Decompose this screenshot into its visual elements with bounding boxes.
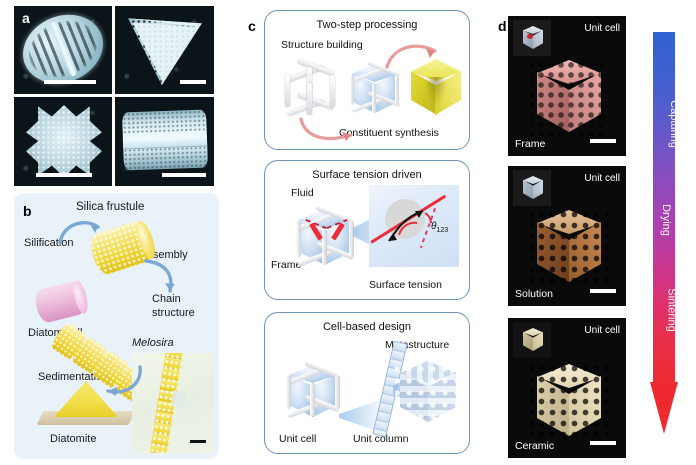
stage-text: Capturing: [668, 100, 680, 148]
lattice-pores: [395, 361, 461, 425]
label-silica-frustule: Silica frustule: [76, 201, 144, 214]
box-title: Two-step processing: [265, 19, 469, 31]
scale-bar: [36, 173, 92, 177]
process-box-two-step: Two-step processing Structure building C…: [264, 10, 470, 150]
stage-label-sintering: Sintering: [650, 304, 672, 316]
panel-a: a: [14, 6, 214, 186]
label-chain-structure-line2: structure: [152, 307, 195, 320]
photo-frame-stage: Unit cell Frame: [508, 16, 626, 156]
inset-label: Unit cell: [584, 325, 620, 336]
photo-solution-stage: Unit cell Solution: [508, 166, 626, 306]
sem-image-cross-diatom: [14, 97, 112, 186]
frame-bar: [350, 75, 354, 105]
panel-b-letter: b: [23, 203, 32, 219]
fluid-frame-cube: [293, 205, 357, 269]
arrow-silification: [56, 215, 102, 245]
figure-root: a b Silica frustule Silificati: [0, 0, 696, 465]
arrow-fluid-to-constituent: [385, 39, 441, 71]
scale-bar: [180, 80, 206, 84]
panel-a-letter: a: [22, 10, 30, 26]
diatom-cell-illustration: [33, 280, 88, 325]
scale-bar: [590, 139, 616, 143]
process-arrow: Capturing Drying Sintering: [650, 32, 678, 436]
frame-bar: [285, 75, 290, 107]
frame-bar: [349, 221, 354, 257]
solution-lattice-cube: [530, 210, 608, 286]
inset-label: Unit cell: [584, 173, 620, 184]
panel-c: c Two-step processing Structure building…: [248, 6, 470, 461]
mini-unit-cell-cube: [521, 328, 545, 352]
box-title: Cell-based design: [265, 321, 469, 333]
cube-concave-notch: [425, 77, 447, 107]
scale-bar: [190, 440, 206, 443]
theta-angle-label: θ123: [431, 221, 448, 234]
metastructure-lattice-cube: [395, 361, 461, 425]
lattice-pores: [530, 364, 608, 440]
mini-unit-cell-cube: [521, 176, 545, 200]
sem-image-triangular-diatom: [115, 6, 214, 94]
state-label: Frame: [515, 138, 545, 150]
frame-bar: [322, 229, 327, 265]
arrow-head: [650, 382, 678, 434]
arrow-sedimentation: [100, 363, 146, 403]
unit-cell-cube: [283, 361, 343, 421]
frame-bar: [330, 75, 335, 107]
label-diatomite: Diatomite: [50, 433, 96, 446]
frame-bar: [307, 83, 312, 115]
ceramic-lattice-cube: [530, 364, 608, 440]
label-melosira: Melosira: [132, 337, 174, 350]
panel-b: b Silica frustule Silification Assembly …: [14, 193, 219, 459]
process-box-cell-based-design: Cell-based design Unit cell Unit column …: [264, 312, 470, 454]
frame-bar: [296, 221, 301, 257]
scale-bar: [590, 441, 616, 445]
unit-cell-inset-ceramic: [513, 322, 551, 358]
unit-cell-inset-frame: [513, 20, 551, 56]
frame-bar: [372, 83, 376, 113]
red-droplet: [527, 34, 533, 39]
melosira-tip-structure: [170, 390, 187, 409]
frame-bar: [395, 75, 399, 105]
inset-label: Unit cell: [584, 23, 620, 34]
stage-text: Sintering: [666, 288, 678, 331]
arrow-structure-to-fluid: [297, 115, 359, 145]
stage-text: Drying: [660, 204, 672, 236]
unit-cell-inset-solution: [513, 170, 551, 206]
panel-c-letter: c: [248, 18, 256, 34]
state-label: Solution: [515, 288, 553, 300]
sem-image-cylindrical-diatom: [115, 97, 214, 186]
label-structure-building: Structure building: [281, 39, 363, 51]
frame-lattice-cube: [530, 60, 608, 136]
process-box-surface-tension: Surface tension driven Fluid Frame Surfa…: [264, 160, 470, 300]
stage-label-capturing: Capturing: [650, 118, 672, 130]
label-fluid: Fluid: [291, 187, 314, 199]
state-label: Ceramic: [515, 440, 554, 452]
panel-d-letter: d: [498, 18, 507, 34]
theta-subscript: 123: [436, 227, 448, 234]
scale-bar: [590, 289, 616, 293]
frame-bar: [335, 376, 340, 409]
surface-tension-inset: θ123: [369, 185, 459, 267]
panel-d: d Unit cell Frame: [498, 6, 696, 461]
stage-label-drying: Drying: [650, 214, 672, 226]
label-surface-tension: Surface tension: [369, 279, 442, 291]
lattice-pores: [530, 60, 608, 136]
scale-bar: [162, 173, 206, 177]
wireframe-cube: [283, 61, 339, 117]
label-unit-cell: Unit cell: [279, 433, 316, 445]
frame-bar: [286, 376, 291, 409]
frame-bar: [310, 383, 315, 416]
photo-ceramic-stage: Unit cell Ceramic: [508, 318, 626, 458]
mini-unit-cell-cube: [521, 26, 545, 50]
arrow-assembly: [140, 257, 182, 297]
box-title: Surface tension driven: [265, 169, 469, 181]
lattice-pores: [530, 210, 608, 286]
scale-bar: [44, 80, 96, 84]
